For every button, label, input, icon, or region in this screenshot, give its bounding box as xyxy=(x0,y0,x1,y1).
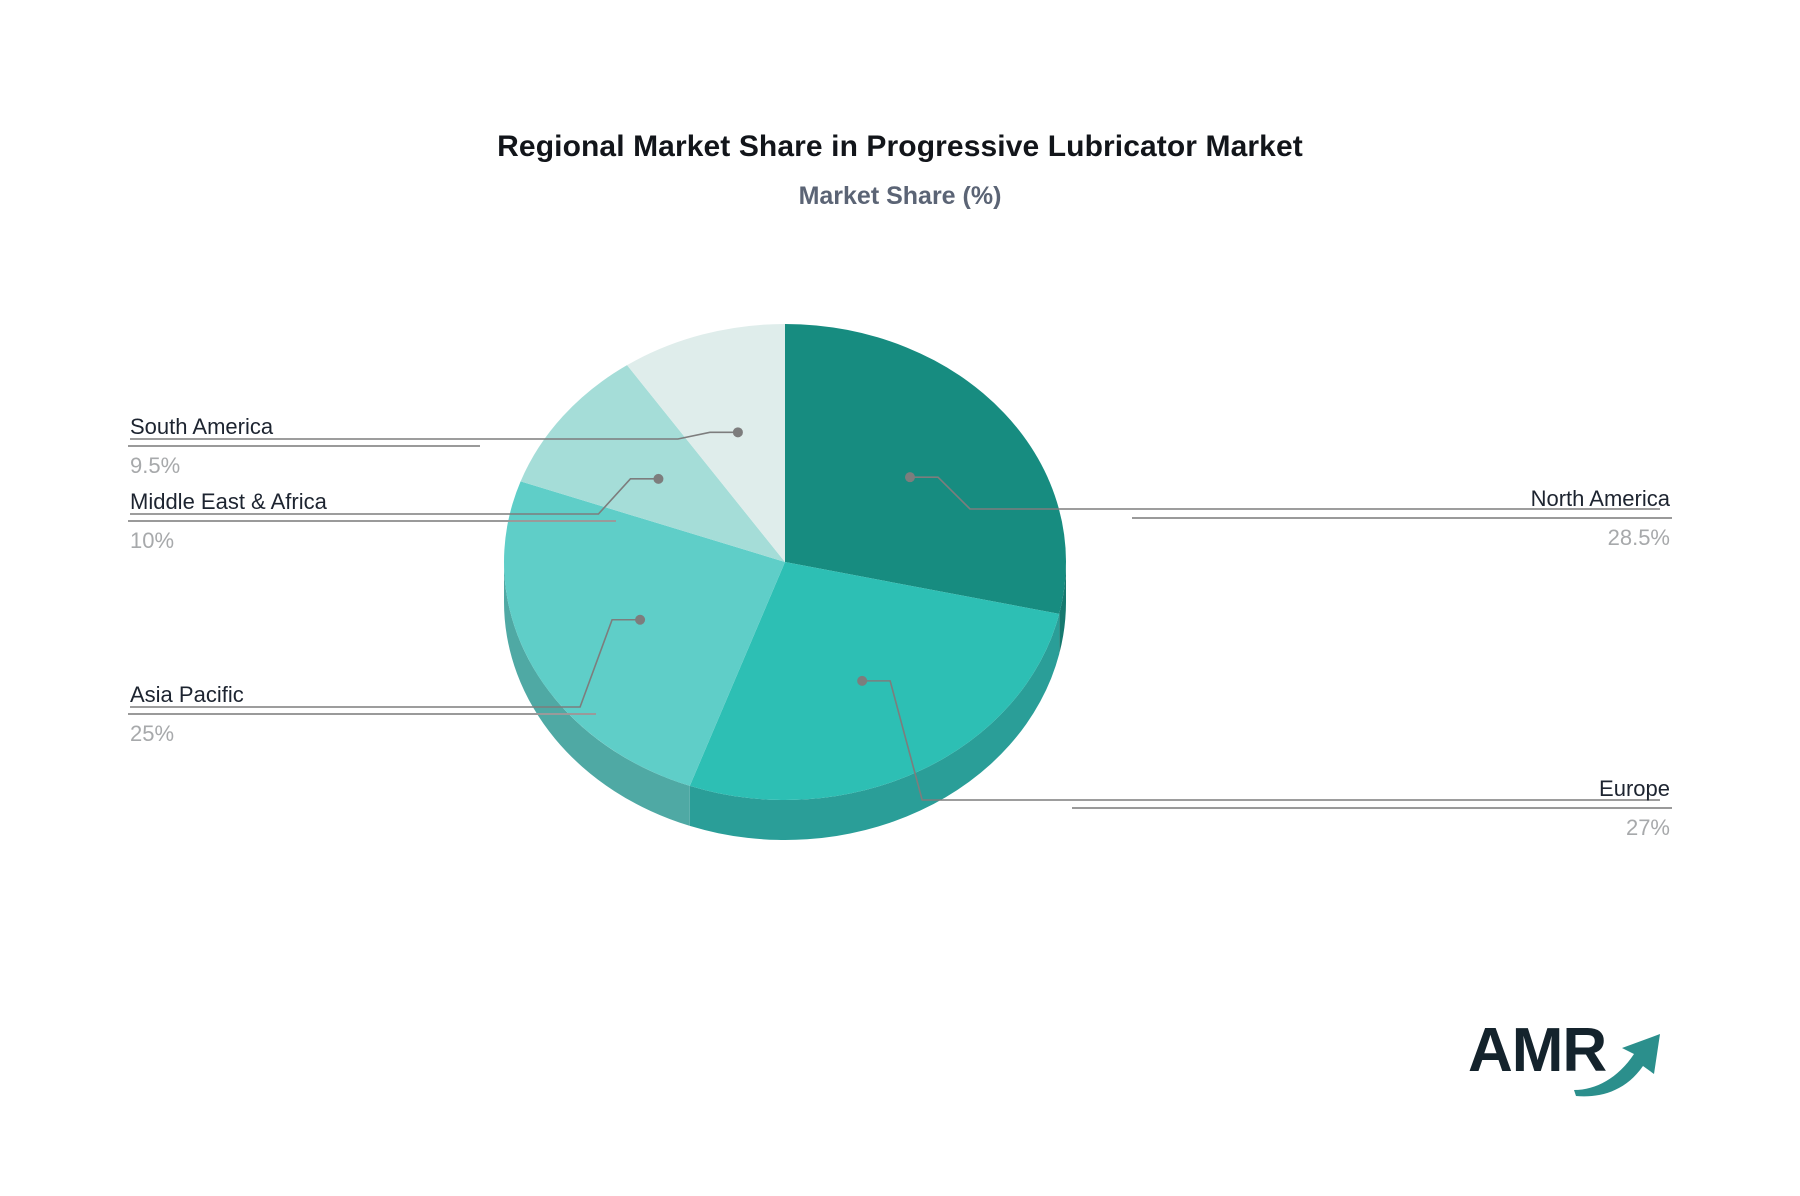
callout-value-asia-pacific: 25% xyxy=(128,715,596,750)
callout-label-asia-pacific: Asia Pacific xyxy=(128,680,596,713)
growth-arrow-icon xyxy=(1572,1026,1668,1098)
callout-label-north-america: North America xyxy=(1132,484,1672,517)
callout-label-europe: Europe xyxy=(1072,774,1672,807)
leader-dot xyxy=(635,615,645,625)
callout-north-america[interactable]: North America 28.5% xyxy=(1132,484,1672,554)
leader-dot xyxy=(733,427,743,437)
callout-value-north-america: 28.5% xyxy=(1132,519,1672,554)
callout-label-south-america: South America xyxy=(128,412,480,445)
leader-dot xyxy=(857,676,867,686)
chart-canvas: Regional Market Share in Progressive Lub… xyxy=(0,0,1800,1196)
callout-europe[interactable]: Europe 27% xyxy=(1072,774,1672,844)
callout-value-south-america: 9.5% xyxy=(128,447,480,482)
callout-asia-pacific[interactable]: Asia Pacific 25% xyxy=(128,680,596,750)
pie-slices-group xyxy=(504,324,1066,840)
leader-dot xyxy=(905,472,915,482)
amr-logo: AMR xyxy=(1468,1006,1668,1098)
callout-south-america[interactable]: South America 9.5% xyxy=(128,412,480,482)
callout-middle-east-africa[interactable]: Middle East & Africa 10% xyxy=(128,487,616,557)
callout-value-middle-east-africa: 10% xyxy=(128,522,616,557)
callout-value-europe: 27% xyxy=(1072,809,1672,844)
callout-label-middle-east-africa: Middle East & Africa xyxy=(128,487,616,520)
leader-dot xyxy=(653,474,663,484)
